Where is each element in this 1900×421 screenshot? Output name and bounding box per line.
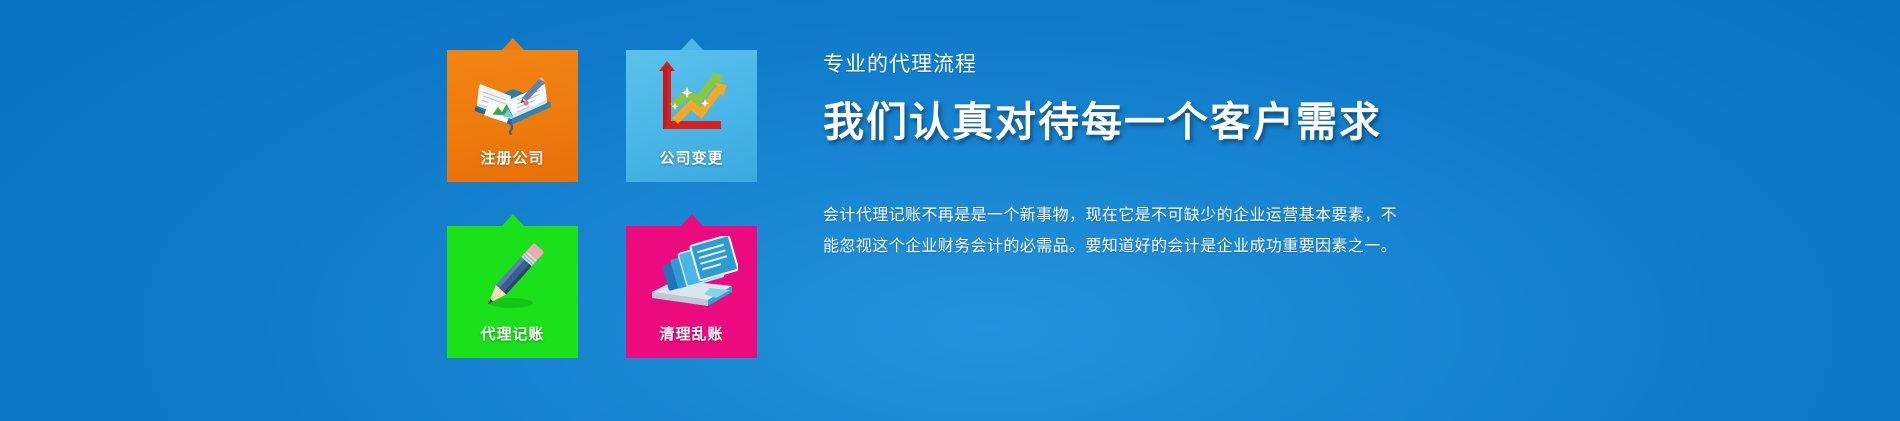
tile-notch-icon: [502, 214, 524, 226]
pencil-icon: [447, 234, 578, 316]
tile-label: 清理乱账: [626, 327, 757, 342]
banner-headline: 我们认真对待每一个客户需求: [823, 98, 1523, 146]
banner-body-copy: 会计代理记账不再是是一个新事物，现在它是不可缺少的企业运营基本要素，不 能忽视这…: [823, 200, 1368, 262]
body-copy-line: 会计代理记账不再是是一个新事物，现在它是不可缺少的企业运营基本要素，不: [823, 200, 1368, 231]
body-copy-line: 能忽视这个企业财务会计的必需品。要知道好的会计是企业成功重要因素之一。: [823, 231, 1368, 262]
stacked-documents-icon: [626, 234, 757, 316]
growth-chart-arrow-icon: [626, 58, 757, 140]
service-tile-company-change[interactable]: 公司变更: [626, 50, 757, 182]
banner-eyebrow: 专业的代理流程: [823, 52, 1523, 78]
banner-copy-block: 专业的代理流程 我们认真对待每一个客户需求 会计代理记账不再是是一个新事物，现在…: [823, 52, 1523, 262]
tile-notch-icon: [681, 214, 703, 226]
service-tile-agency-bookkeeping[interactable]: 代理记账: [447, 226, 578, 358]
tile-notch-icon: [681, 38, 703, 50]
tile-notch-icon: [502, 38, 524, 50]
service-tile-register-company[interactable]: 注册公司: [447, 50, 578, 182]
tile-label: 公司变更: [626, 151, 757, 166]
promo-banner: 注册公司: [0, 0, 1900, 421]
service-tile-grid: 注册公司: [447, 50, 758, 358]
tile-label: 注册公司: [447, 151, 578, 166]
service-tile-account-cleanup[interactable]: 清理乱账: [626, 226, 757, 358]
open-book-with-pencil-icon: [447, 58, 578, 140]
tile-label: 代理记账: [447, 327, 578, 342]
